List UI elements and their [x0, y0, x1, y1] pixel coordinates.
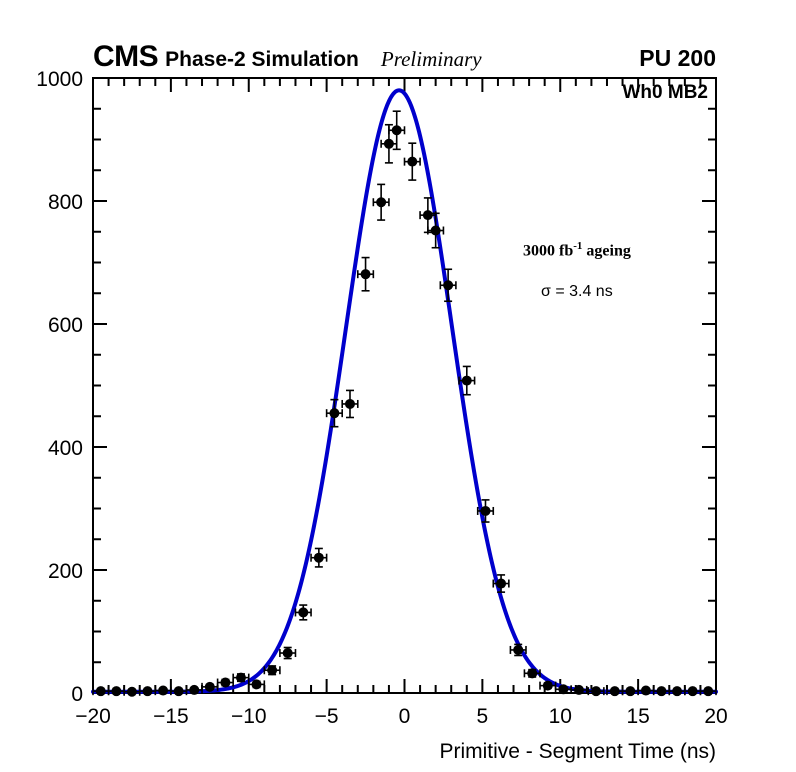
y-tick-label: 600 — [48, 314, 83, 337]
dataset-label: Phase-2 Simulation — [165, 49, 359, 70]
lumi-suffix: ageing — [582, 242, 630, 259]
x-tick-label: 10 — [549, 705, 572, 728]
x-tick-label: −10 — [231, 705, 267, 728]
x-tick-label: 20 — [704, 705, 727, 728]
x-tick-label: 0 — [399, 705, 411, 728]
x-tick-label: −20 — [75, 705, 111, 728]
y-tick-label: 0 — [71, 683, 83, 706]
x-tick-label: −15 — [153, 705, 189, 728]
y-tick-label: 400 — [48, 437, 83, 460]
luminosity-ageing-annotation: 3000 fb-1 ageing — [523, 240, 631, 260]
x-tick-label: −5 — [315, 705, 339, 728]
sigma-annotation: σ = 3.4 ns — [541, 283, 613, 301]
y-axis-title: Events — [0, 88, 4, 208]
y-tick-label: 200 — [48, 560, 83, 583]
y-tick-label: 800 — [48, 191, 83, 214]
x-tick-label: 5 — [477, 705, 489, 728]
status-label: Preliminary — [381, 49, 482, 70]
cms-header-row: CMS Phase-2 Simulation Preliminary PU 20… — [93, 42, 716, 72]
cms-logo: CMS — [93, 42, 158, 72]
lumi-value: 3000 fb — [523, 242, 573, 259]
x-tick-label: 15 — [626, 705, 649, 728]
pileup-label: PU 200 — [639, 47, 716, 70]
x-axis-title: Primitive - Segment Time (ns) — [0, 740, 796, 764]
y-tick-label: 1000 — [36, 68, 83, 91]
region-label: Wh0 MB2 — [623, 82, 709, 104]
chart-canvas: 02004006008001000 −20−15−10−505101520 — [0, 0, 796, 772]
canvas-background — [0, 0, 796, 772]
